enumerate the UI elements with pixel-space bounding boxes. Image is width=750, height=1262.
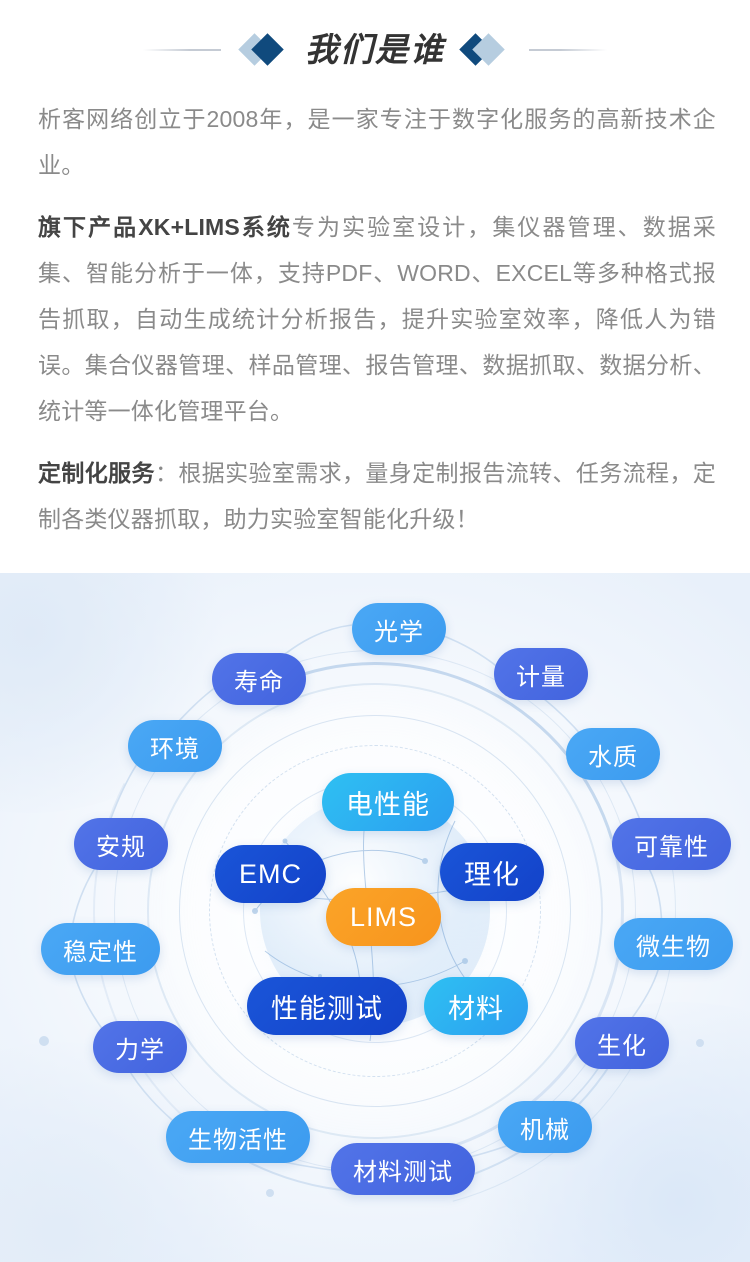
diamond-pair-right-icon: [459, 34, 511, 66]
header-rule-left: [143, 49, 221, 51]
capability-bubble[interactable]: 可靠性: [612, 818, 731, 870]
capability-bubble-label: 机械: [520, 1110, 570, 1145]
capability-bubble[interactable]: 力学: [93, 1021, 187, 1073]
diamond-pair-left-icon: [239, 34, 291, 66]
page-title: 我们是谁: [305, 33, 445, 68]
capability-bubble[interactable]: LIMS: [326, 888, 441, 946]
capability-bubble-label: 可靠性: [634, 827, 709, 862]
capability-bubble-label: 电性能: [346, 783, 430, 822]
capability-bubble-label: 环境: [150, 729, 200, 764]
capability-bubble-label: 寿命: [234, 662, 284, 697]
capability-bubble[interactable]: 光学: [352, 603, 446, 655]
capability-bubble[interactable]: 生化: [575, 1017, 669, 1069]
body-copy: 析客网络创立于2008年，是一家专注于数字化服务的高新技术企业。 旗下产品XK+…: [38, 96, 716, 558]
paragraph-text: 析客网络创立于2008年，是一家专注于数字化服务的高新技术企业。: [38, 106, 716, 178]
capability-bubble[interactable]: 水质: [566, 728, 660, 780]
capability-bubble-label: 微生物: [636, 927, 711, 962]
capability-bubble[interactable]: 稳定性: [41, 923, 160, 975]
capability-bubble[interactable]: 微生物: [614, 918, 733, 970]
capability-bubble-label: 计量: [516, 657, 566, 692]
section-header: 我们是谁: [0, 18, 750, 82]
capability-bubble-label: 光学: [374, 612, 424, 647]
capability-bubble-label: 生化: [597, 1026, 647, 1061]
paragraph-product: 旗下产品XK+LIMS系统专为实验室设计，集仪器管理、数据采集、智能分析于一体，…: [38, 204, 716, 434]
capability-bubble-label: 理化: [464, 853, 520, 892]
paragraph-lead: 旗下产品XK+LIMS系统: [38, 214, 292, 240]
paragraph-custom: 定制化服务：根据实验室需求，量身定制报告流转、任务流程，定制各类仪器抓取，助力实…: [38, 450, 716, 542]
capability-bubble-label: LIMS: [350, 902, 417, 933]
page-root: 我们是谁 析客网络创立于2008年，是一家专注于数字化服务的高新技术企业。 旗下…: [0, 0, 750, 1262]
header-rule-right: [529, 49, 607, 51]
capability-bubble[interactable]: 计量: [494, 648, 588, 700]
capability-diagram: 光学寿命计量环境水质安规可靠性电性能EMC理化LIMS稳定性微生物性能测试材料生…: [0, 573, 750, 1262]
capability-bubble[interactable]: 电性能: [322, 773, 454, 831]
capability-bubble-label: 水质: [588, 737, 638, 772]
capability-bubble-label: 材料: [448, 987, 504, 1026]
capability-bubble-label: 生物活性: [188, 1120, 288, 1155]
capability-bubble[interactable]: 材料: [424, 977, 528, 1035]
capability-bubble-label: 安规: [96, 827, 146, 862]
capability-bubble[interactable]: 生物活性: [166, 1111, 310, 1163]
capability-bubble-label: 稳定性: [63, 932, 138, 967]
capability-bubble-label: 力学: [115, 1030, 165, 1065]
capability-bubble-label: EMC: [239, 859, 302, 890]
capability-bubble[interactable]: 安规: [74, 818, 168, 870]
capability-bubble[interactable]: 性能测试: [247, 977, 407, 1035]
capability-bubble[interactable]: 环境: [128, 720, 222, 772]
capability-bubble[interactable]: EMC: [215, 845, 326, 903]
background-wash-icon: [0, 573, 240, 813]
capability-bubble-label: 性能测试: [271, 987, 383, 1026]
paragraph-lead: 定制化服务: [38, 460, 155, 486]
capability-bubble[interactable]: 理化: [440, 843, 544, 901]
paragraph-intro: 析客网络创立于2008年，是一家专注于数字化服务的高新技术企业。: [38, 96, 716, 188]
capability-bubble[interactable]: 机械: [498, 1101, 592, 1153]
capability-bubble-label: 材料测试: [353, 1152, 453, 1187]
capability-bubble[interactable]: 材料测试: [331, 1143, 475, 1195]
capability-bubble[interactable]: 寿命: [212, 653, 306, 705]
paragraph-text: 专为实验室设计，集仪器管理、数据采集、智能分析于一体，支持PDF、WORD、EX…: [38, 214, 716, 424]
